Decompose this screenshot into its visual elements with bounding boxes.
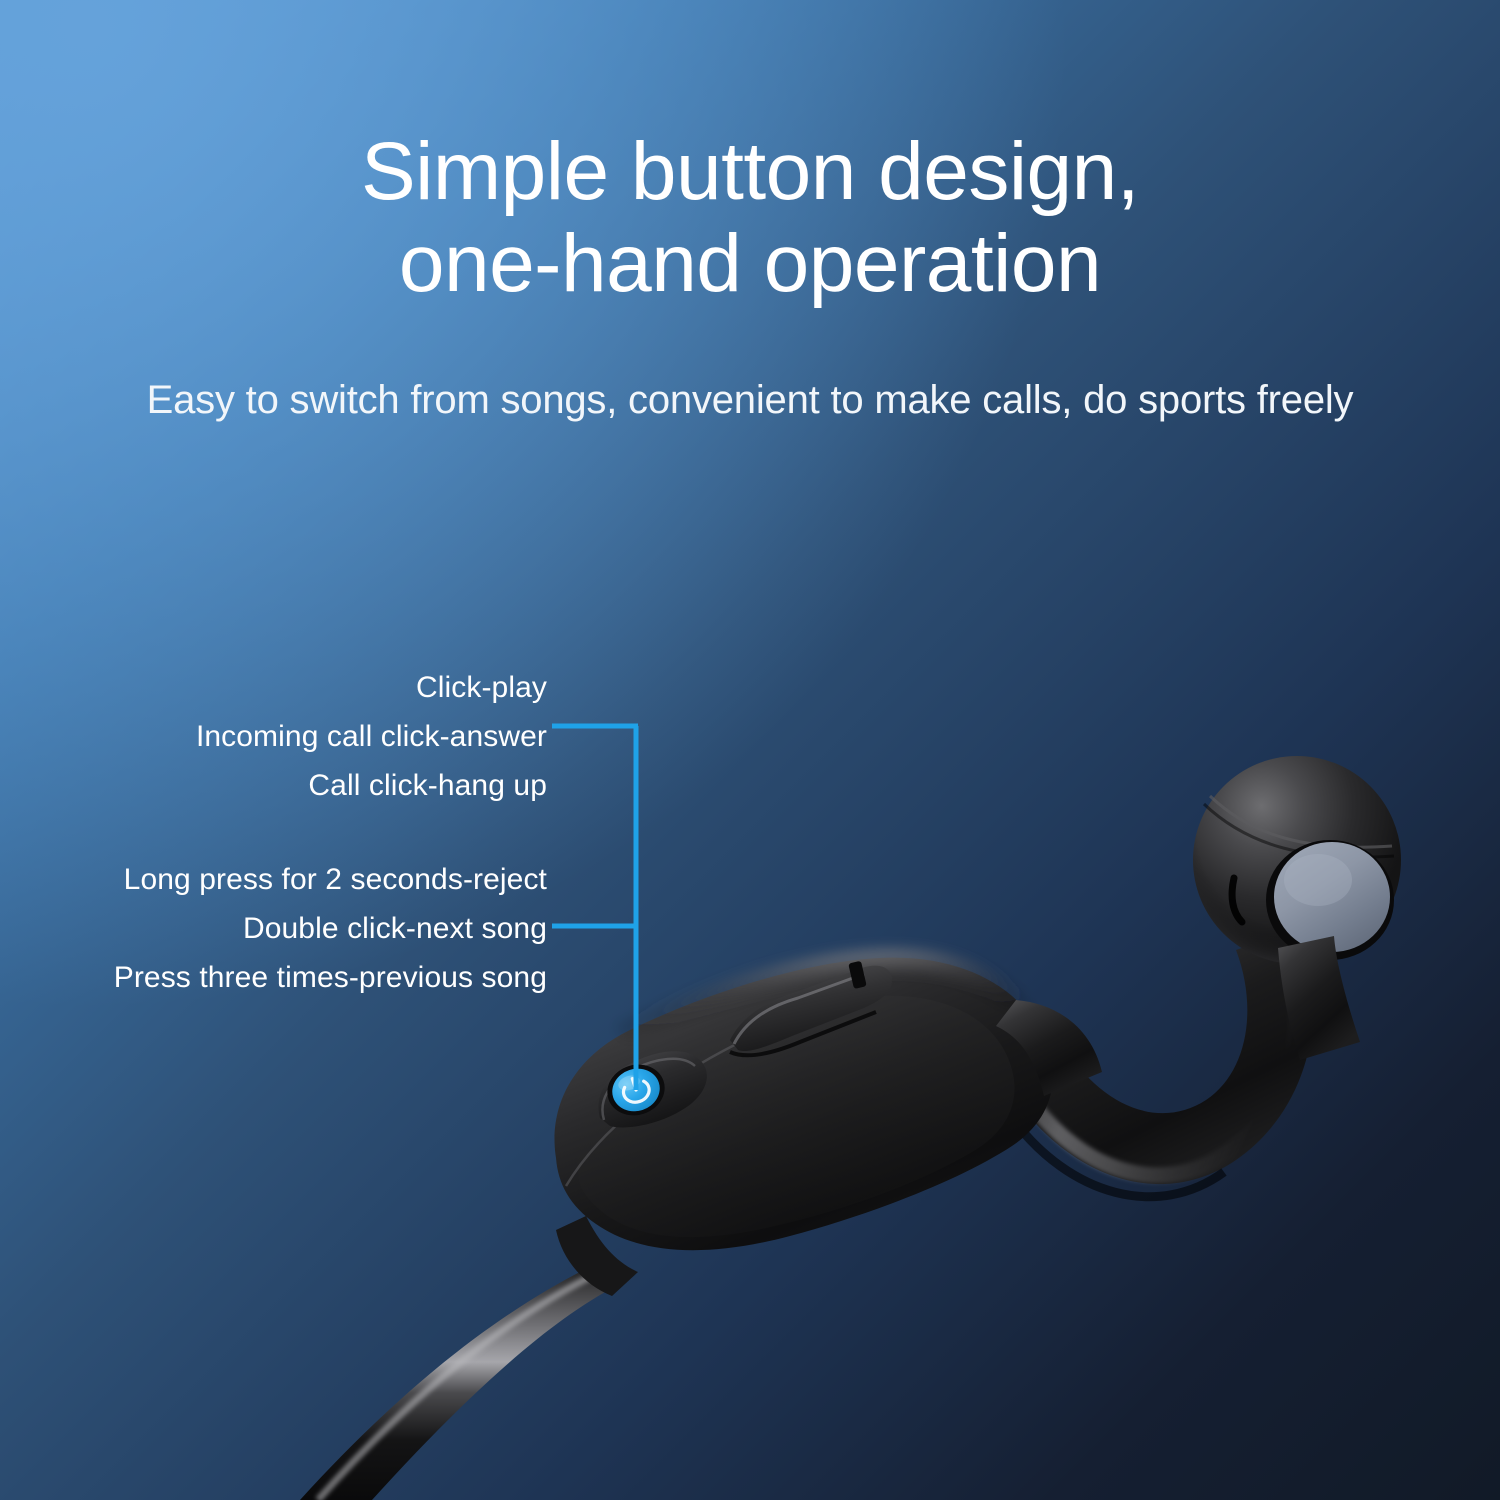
earbud-housing — [1193, 756, 1401, 1060]
product-illustration — [0, 0, 1500, 1500]
neckband-cable — [300, 1262, 616, 1500]
promo-banner: Simple button design, one-hand operation… — [0, 0, 1500, 1500]
